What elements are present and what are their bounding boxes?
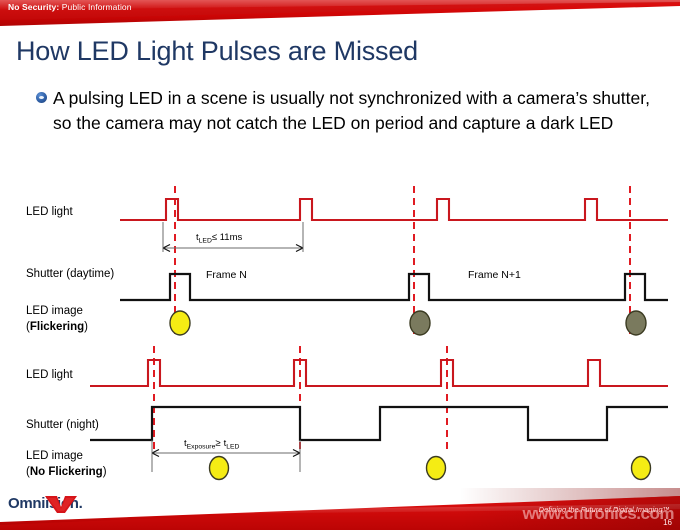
row-label-led-image-flickering-line2: (Flickering) xyxy=(26,321,88,333)
texp-subscript2: LED xyxy=(226,444,239,451)
omnivision-v-icon xyxy=(44,494,78,514)
row-label-led-image-no-flickering-line2: (No Flickering) xyxy=(26,466,107,478)
row-label-led-image-no-flickering-line1: LED image xyxy=(26,450,83,462)
frame-label-n1: Frame N+1 xyxy=(468,269,521,281)
led-indicator-on xyxy=(632,457,651,480)
flickering-paren-close: ) xyxy=(84,321,88,333)
bullet-row: A pulsing LED in a scene is usually not … xyxy=(36,86,672,136)
led-image-no-flickering-indicators xyxy=(210,457,651,480)
tled-relation: ≤ 11ms xyxy=(212,232,243,243)
footer-tagline: Defining the Future of Digital Imaging™ xyxy=(539,505,670,514)
classification-label: No Security: xyxy=(8,2,59,12)
row-label-shutter-daytime: Shutter (daytime) xyxy=(26,268,114,280)
timing-diagram: LED light tLED≤ 11ms Shutter (daytime) F… xyxy=(0,182,680,494)
waveform-shutter-night xyxy=(90,407,668,440)
flickering-word: Flickering xyxy=(30,321,84,333)
row-label-led-light-day: LED light xyxy=(26,206,73,218)
waveform-led-light-day xyxy=(120,199,668,220)
classification-value: Public Information xyxy=(62,2,132,12)
marker-lines-top xyxy=(175,186,630,334)
led-indicator-on xyxy=(170,311,190,335)
omnivision-logo: Omni ision. xyxy=(8,495,83,512)
led-indicator-off xyxy=(410,311,430,335)
led-indicator-on xyxy=(210,457,229,480)
led-indicator-on xyxy=(427,457,446,480)
page-title: How LED Light Pulses are Missed xyxy=(16,36,418,67)
noflicker-paren-close: ) xyxy=(103,466,107,478)
texp-subscript: Exposure xyxy=(187,444,216,451)
frame-label-n: Frame N xyxy=(206,269,247,281)
waveform-led-light-night xyxy=(90,360,668,386)
led-indicator-off xyxy=(626,311,646,335)
page-number: 16 xyxy=(663,518,672,527)
bullet-circle-icon xyxy=(36,92,47,103)
row-label-led-light-night: LED light xyxy=(26,369,73,381)
noflicker-word: No Flickering xyxy=(30,466,103,478)
bullet-block: A pulsing LED in a scene is usually not … xyxy=(36,86,672,136)
waveform-shutter-daytime xyxy=(120,274,668,300)
bullet-text: A pulsing LED in a scene is usually not … xyxy=(53,86,672,136)
led-image-flickering-indicators xyxy=(170,311,646,335)
security-classification: No Security: Public Information xyxy=(8,2,132,12)
measure-label-tled: tLED≤ 11ms xyxy=(196,232,243,245)
texp-relation: ≥ xyxy=(215,438,220,449)
row-label-led-image-flickering-line1: LED image xyxy=(26,305,83,317)
row-label-shutter-night: Shutter (night) xyxy=(26,419,99,431)
logo-text-omni: Omni xyxy=(8,495,45,512)
tled-subscript: LED xyxy=(199,238,212,245)
measure-label-texposure: tExposure≥tLED xyxy=(184,438,240,451)
